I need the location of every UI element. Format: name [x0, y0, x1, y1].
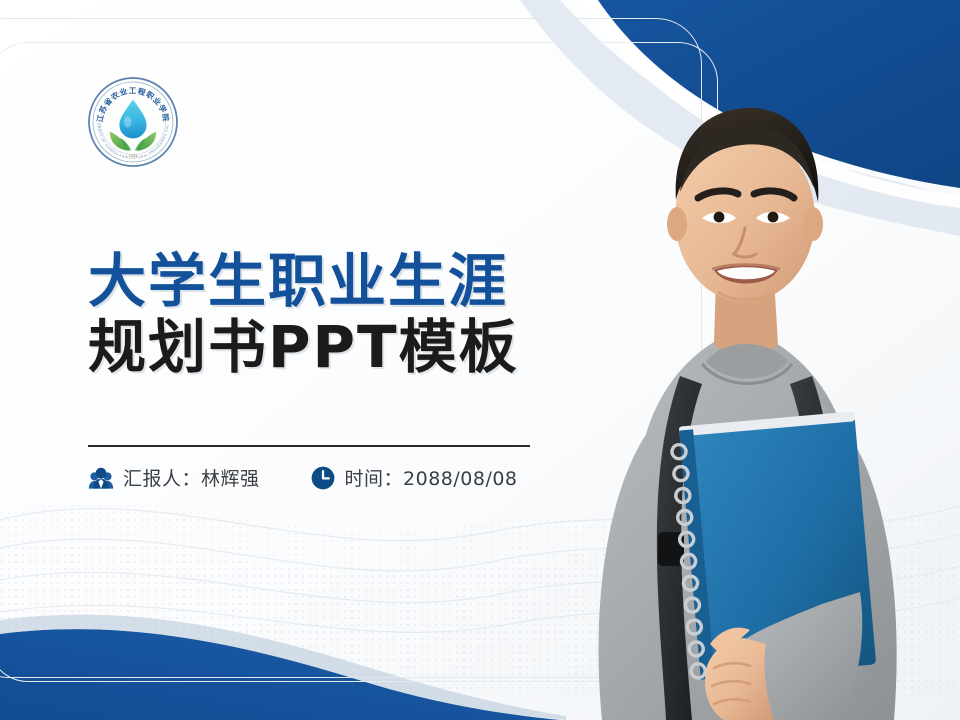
title-line-1: 大学生职业生涯 [88, 248, 558, 314]
clock-icon [310, 465, 336, 491]
title-line-2: 规划书PPT模板 [88, 314, 558, 380]
slide-title: 大学生职业生涯 规划书PPT模板 [88, 248, 558, 380]
university-seal-logo: 江苏省农业工程职业学院 UNIVERSITY OF JIANGSU AGRICU… [85, 74, 181, 170]
student-photo [530, 32, 960, 720]
presenter-text: 汇报人：林辉强 [123, 464, 260, 491]
date-item: 时间：2088/08/08 [310, 464, 518, 491]
ppt-cover-slide: 江苏省农业工程职业学院 UNIVERSITY OF JIANGSU AGRICU… [0, 0, 960, 720]
presenter-item: 汇报人：林辉强 [88, 464, 260, 491]
title-divider [88, 445, 530, 447]
date-text: 时间：2088/08/08 [345, 464, 518, 491]
people-group-icon [88, 465, 114, 491]
meta-row: 汇报人：林辉强 时间：2088/08/08 [88, 464, 518, 491]
svg-text:1923: 1923 [129, 154, 137, 158]
